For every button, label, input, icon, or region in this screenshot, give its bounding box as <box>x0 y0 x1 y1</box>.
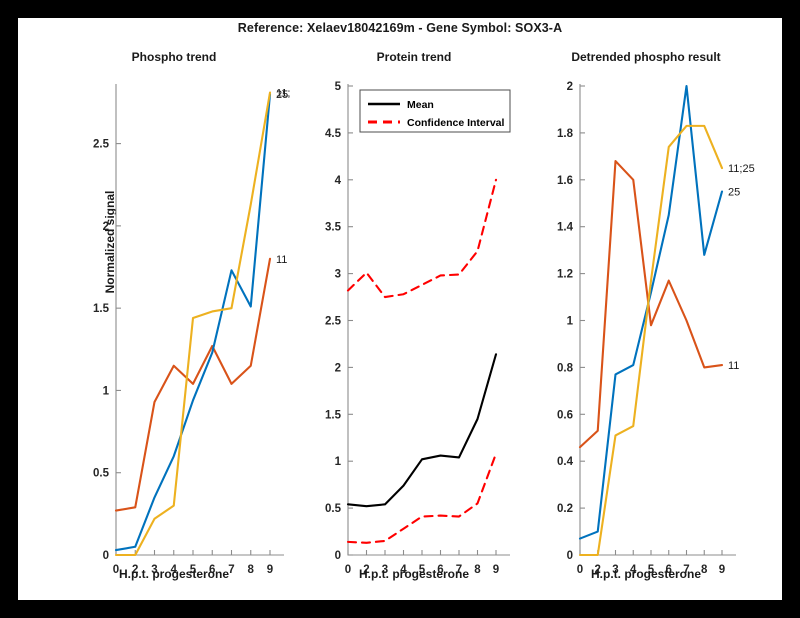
y-tick-label: 0.6 <box>557 409 573 421</box>
series-end-label: 11;25 <box>728 163 755 175</box>
y-tick-label: 0.5 <box>325 503 342 515</box>
y-tick-label: 2.5 <box>325 316 342 328</box>
subplot-2-plot-area: 00.511.522.533.544.55023456789MeanConfid… <box>298 50 530 585</box>
y-tick-label: 0 <box>335 550 341 562</box>
y-tick-label: 2 <box>103 221 109 233</box>
y-tick-label: 0 <box>567 550 573 562</box>
y-tick-label: 1.4 <box>557 222 574 234</box>
y-tick-label: 2.5 <box>93 139 110 151</box>
figure-title: Reference: Xelaev18042169m - Gene Symbol… <box>18 21 782 35</box>
data-series-line <box>348 354 496 506</box>
y-tick-label: 2 <box>567 81 573 93</box>
data-series-line <box>580 126 722 555</box>
data-series-line <box>580 161 722 447</box>
y-tick-label: 1.8 <box>557 128 574 140</box>
series-end-label: 11;25 <box>276 88 290 100</box>
data-series-line <box>348 454 496 543</box>
y-tick-label: 3.5 <box>325 222 342 234</box>
data-series-line <box>348 180 496 297</box>
data-series-line <box>580 86 722 539</box>
figure-canvas: Reference: Xelaev18042169m - Gene Symbol… <box>18 18 782 600</box>
y-tick-label: 0.2 <box>557 503 573 515</box>
subplot-3-plot-area: 00.20.40.60.811.21.41.61.820234567891125… <box>526 50 766 585</box>
y-tick-label: 4 <box>335 175 342 187</box>
legend-label: Confidence Interval <box>407 117 505 129</box>
y-tick-label: 1.2 <box>557 269 573 281</box>
series-end-label: 25 <box>728 187 740 199</box>
series-end-label: 11 <box>728 360 739 372</box>
y-tick-label: 3 <box>335 269 341 281</box>
subplot-protein-trend: Protein trend 00.511.522.533.544.5502345… <box>298 50 530 585</box>
y-tick-label: 0.4 <box>557 456 574 468</box>
y-tick-label: 0.8 <box>557 362 574 374</box>
subplot-2-xlabel: H.p.t. progesterone <box>298 567 530 581</box>
subplot-phospho-trend: Phospho trend Normalized signal 00.511.5… <box>58 50 290 585</box>
series-end-label: 11 <box>276 254 287 266</box>
subplot-3-xlabel: H.p.t. progesterone <box>526 567 766 581</box>
subplot-detrended-phospho-result: Detrended phospho result 00.20.40.60.811… <box>526 50 766 585</box>
y-tick-label: 1.5 <box>325 409 342 421</box>
y-tick-label: 1 <box>335 456 342 468</box>
y-tick-label: 1.5 <box>93 303 110 315</box>
subplot-1-xlabel: H.p.t. progesterone <box>58 567 290 581</box>
y-tick-label: 4.5 <box>325 128 342 140</box>
legend-label: Mean <box>407 99 434 111</box>
y-tick-label: 5 <box>335 81 342 93</box>
y-tick-label: 0 <box>103 550 109 562</box>
subplot-1-plot-area: 00.511.522.5023456789112511;25 <box>58 50 290 585</box>
data-series-line <box>116 259 270 511</box>
figure-frame: Reference: Xelaev18042169m - Gene Symbol… <box>0 0 800 618</box>
y-tick-label: 1.6 <box>557 175 573 187</box>
y-tick-label: 0.5 <box>93 468 110 480</box>
y-tick-label: 1 <box>103 385 110 397</box>
y-tick-label: 1 <box>567 316 574 328</box>
y-tick-label: 2 <box>335 362 341 374</box>
